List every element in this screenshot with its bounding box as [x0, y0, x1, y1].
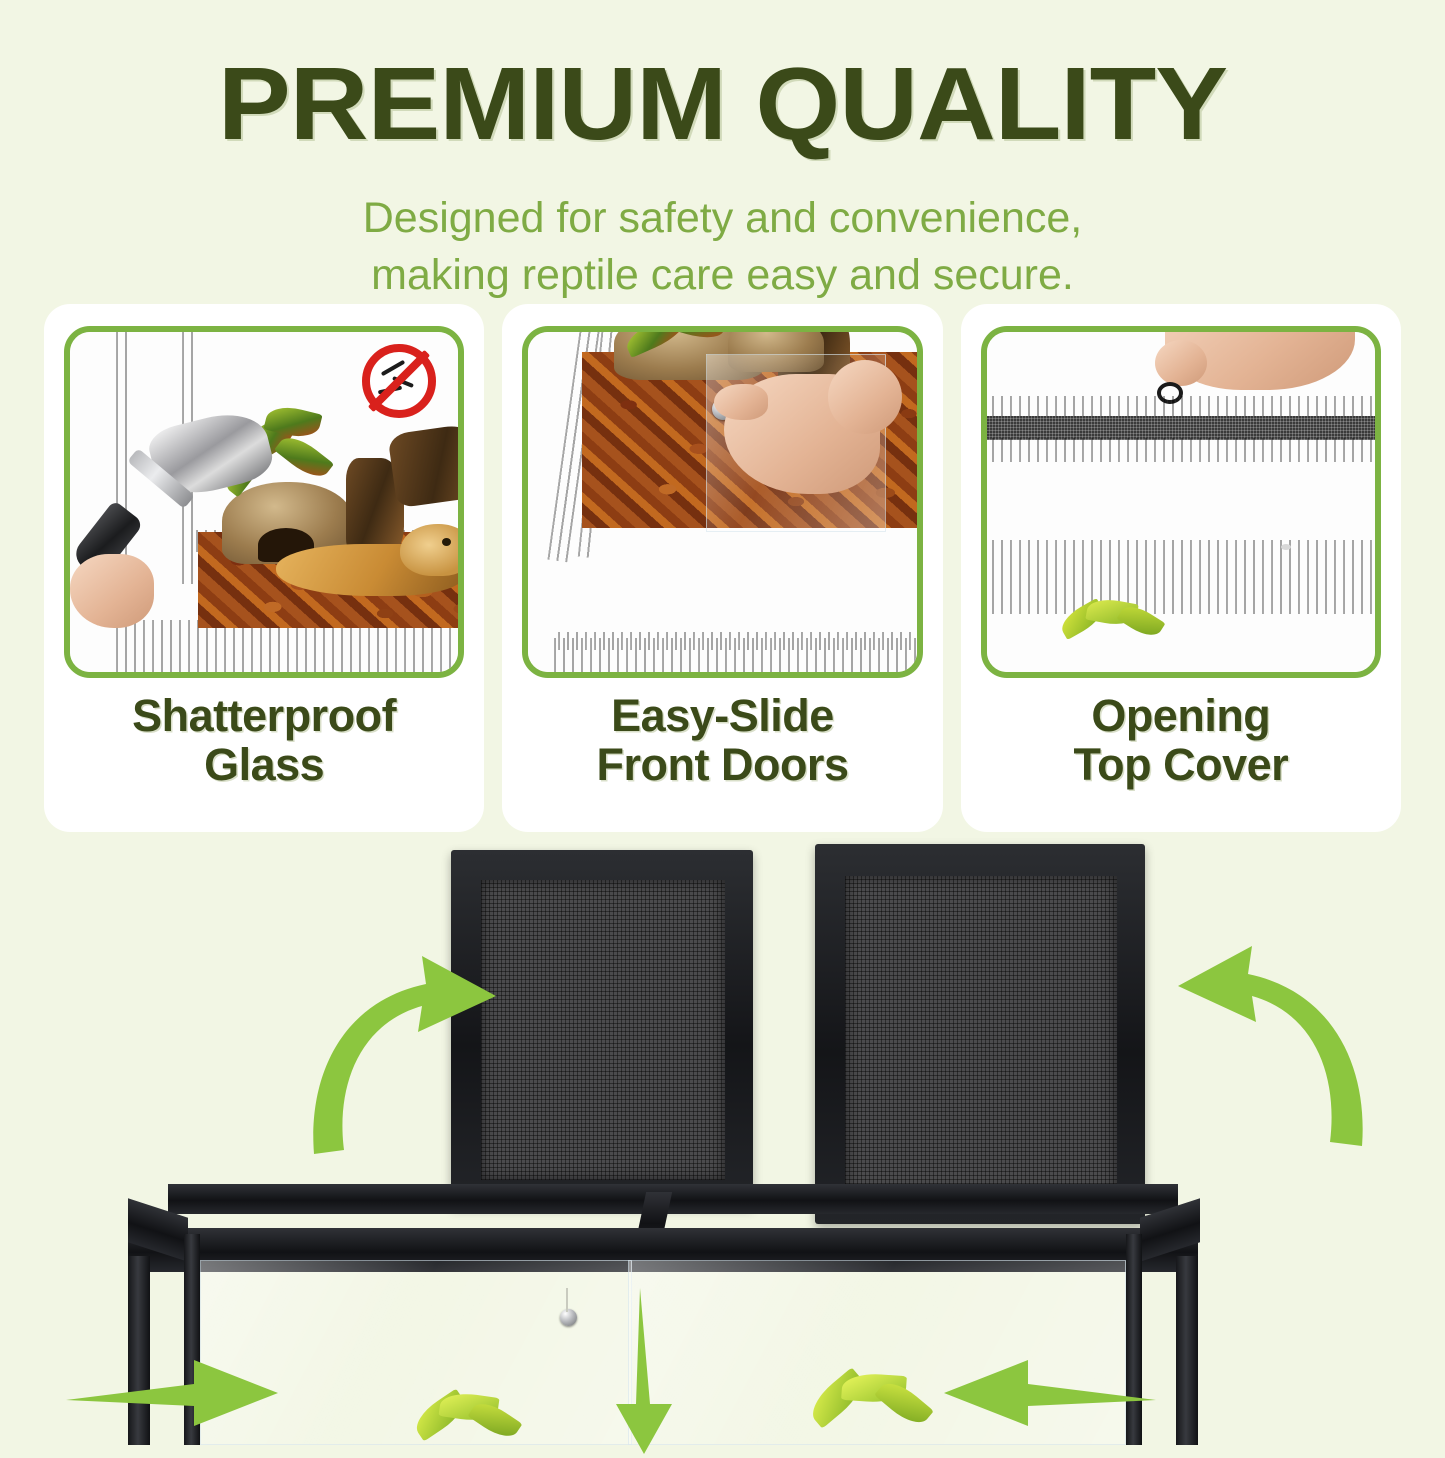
- tank-post-right: [1176, 1256, 1198, 1445]
- no-crack-icon: [362, 344, 436, 418]
- opening-top-cover-label: Opening Top Cover: [1073, 692, 1288, 789]
- opening-top-cover-photo: [981, 326, 1381, 678]
- card-label-line-1: Shatterproof: [132, 692, 396, 741]
- hero-product-photo: [0, 836, 1445, 1445]
- tank-top-rail-back: [168, 1184, 1178, 1214]
- page-headline: PREMIUM QUALITY: [0, 52, 1445, 155]
- card-label-line-2: Glass: [132, 741, 396, 790]
- subtitle-line-1: Designed for safety and convenience,: [0, 190, 1445, 247]
- arrow-center-door: [604, 1288, 684, 1458]
- page-subtitle: Designed for safety and convenience, mak…: [0, 190, 1445, 304]
- front-door-knob-tether: [566, 1288, 568, 1312]
- arrow-right-door: [936, 1358, 1156, 1428]
- shatterproof-glass-photo: [64, 326, 464, 678]
- feature-card-shatterproof-glass: Shatterproof Glass: [44, 304, 484, 832]
- card-label-line-1: Easy-Slide: [597, 692, 849, 741]
- front-door-knob[interactable]: [560, 1309, 577, 1326]
- card-label-line-2: Front Doors: [597, 741, 849, 790]
- card-label-line-2: Top Cover: [1073, 741, 1288, 790]
- feature-card-row: Shatterproof Glass: [44, 304, 1401, 832]
- easy-slide-front-doors-label: Easy-Slide Front Doors: [597, 692, 849, 789]
- card-label-line-1: Opening: [1073, 692, 1288, 741]
- feature-card-easy-slide-front-doors: Easy-Slide Front Doors: [502, 304, 942, 832]
- easy-slide-front-doors-photo: [522, 326, 922, 678]
- shatterproof-glass-label: Shatterproof Glass: [132, 692, 396, 789]
- feature-card-opening-top-cover: Opening Top Cover: [961, 304, 1401, 832]
- subtitle-line-2: making reptile care easy and secure.: [0, 247, 1445, 304]
- top-cover-mesh-right: [845, 876, 1117, 1196]
- arrow-to-right-lid: [1146, 916, 1386, 1156]
- arrow-left-door: [66, 1358, 286, 1428]
- arrow-to-left-lid: [300, 928, 530, 1158]
